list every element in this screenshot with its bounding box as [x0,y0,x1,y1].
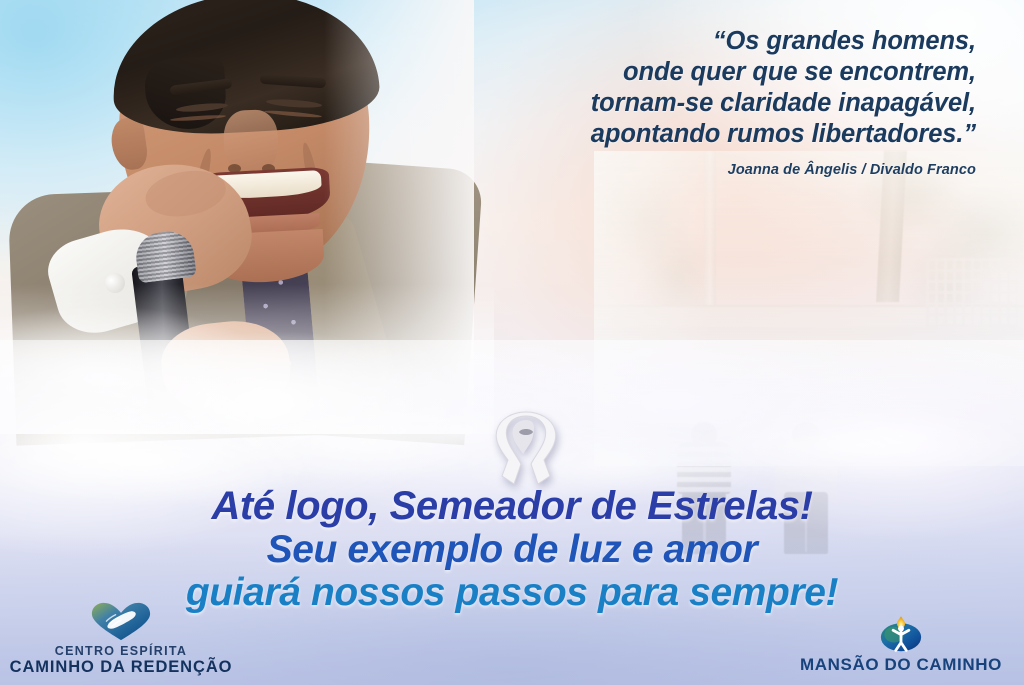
logo-left-line-2: CAMINHO DA REDENÇÃO [6,658,236,677]
mourning-ribbon-icon [488,410,564,492]
quote-author: Joanna de Ângelis / Divaldo Franco [336,162,976,178]
logo-mansao-do-caminho: MANSÃO DO CAMINHO [786,611,1016,675]
logo-right-label: MANSÃO DO CAMINHO [786,655,1016,675]
headline-line-1: Até logo, Semeador de Estrelas! [0,486,1024,527]
heart-hand-icon [85,602,157,642]
quote-line-4: apontando rumos libertadores.” [336,119,976,150]
headline-block: Até logo, Semeador de Estrelas! Seu exem… [0,486,1024,612]
globe-figure-flame-icon [873,611,929,653]
headline-line-2: Seu exemplo de luz e amor [0,530,1024,570]
memorial-poster: “Os grandes homens, onde quer que se enc… [0,0,1024,685]
logo-left-line-1: CENTRO ESPÍRITA [6,644,236,658]
logo-centro-espirita: CENTRO ESPÍRITA CAMINHO DA REDENÇÃO [6,602,236,677]
quote-line-1: “Os grandes homens, [336,26,976,57]
quote-block: “Os grandes homens, onde quer que se enc… [336,26,976,178]
quote-line-2: onde quer que se encontrem, [336,57,976,88]
quote-line-3: tornam-se claridade inapagável, [336,88,976,119]
